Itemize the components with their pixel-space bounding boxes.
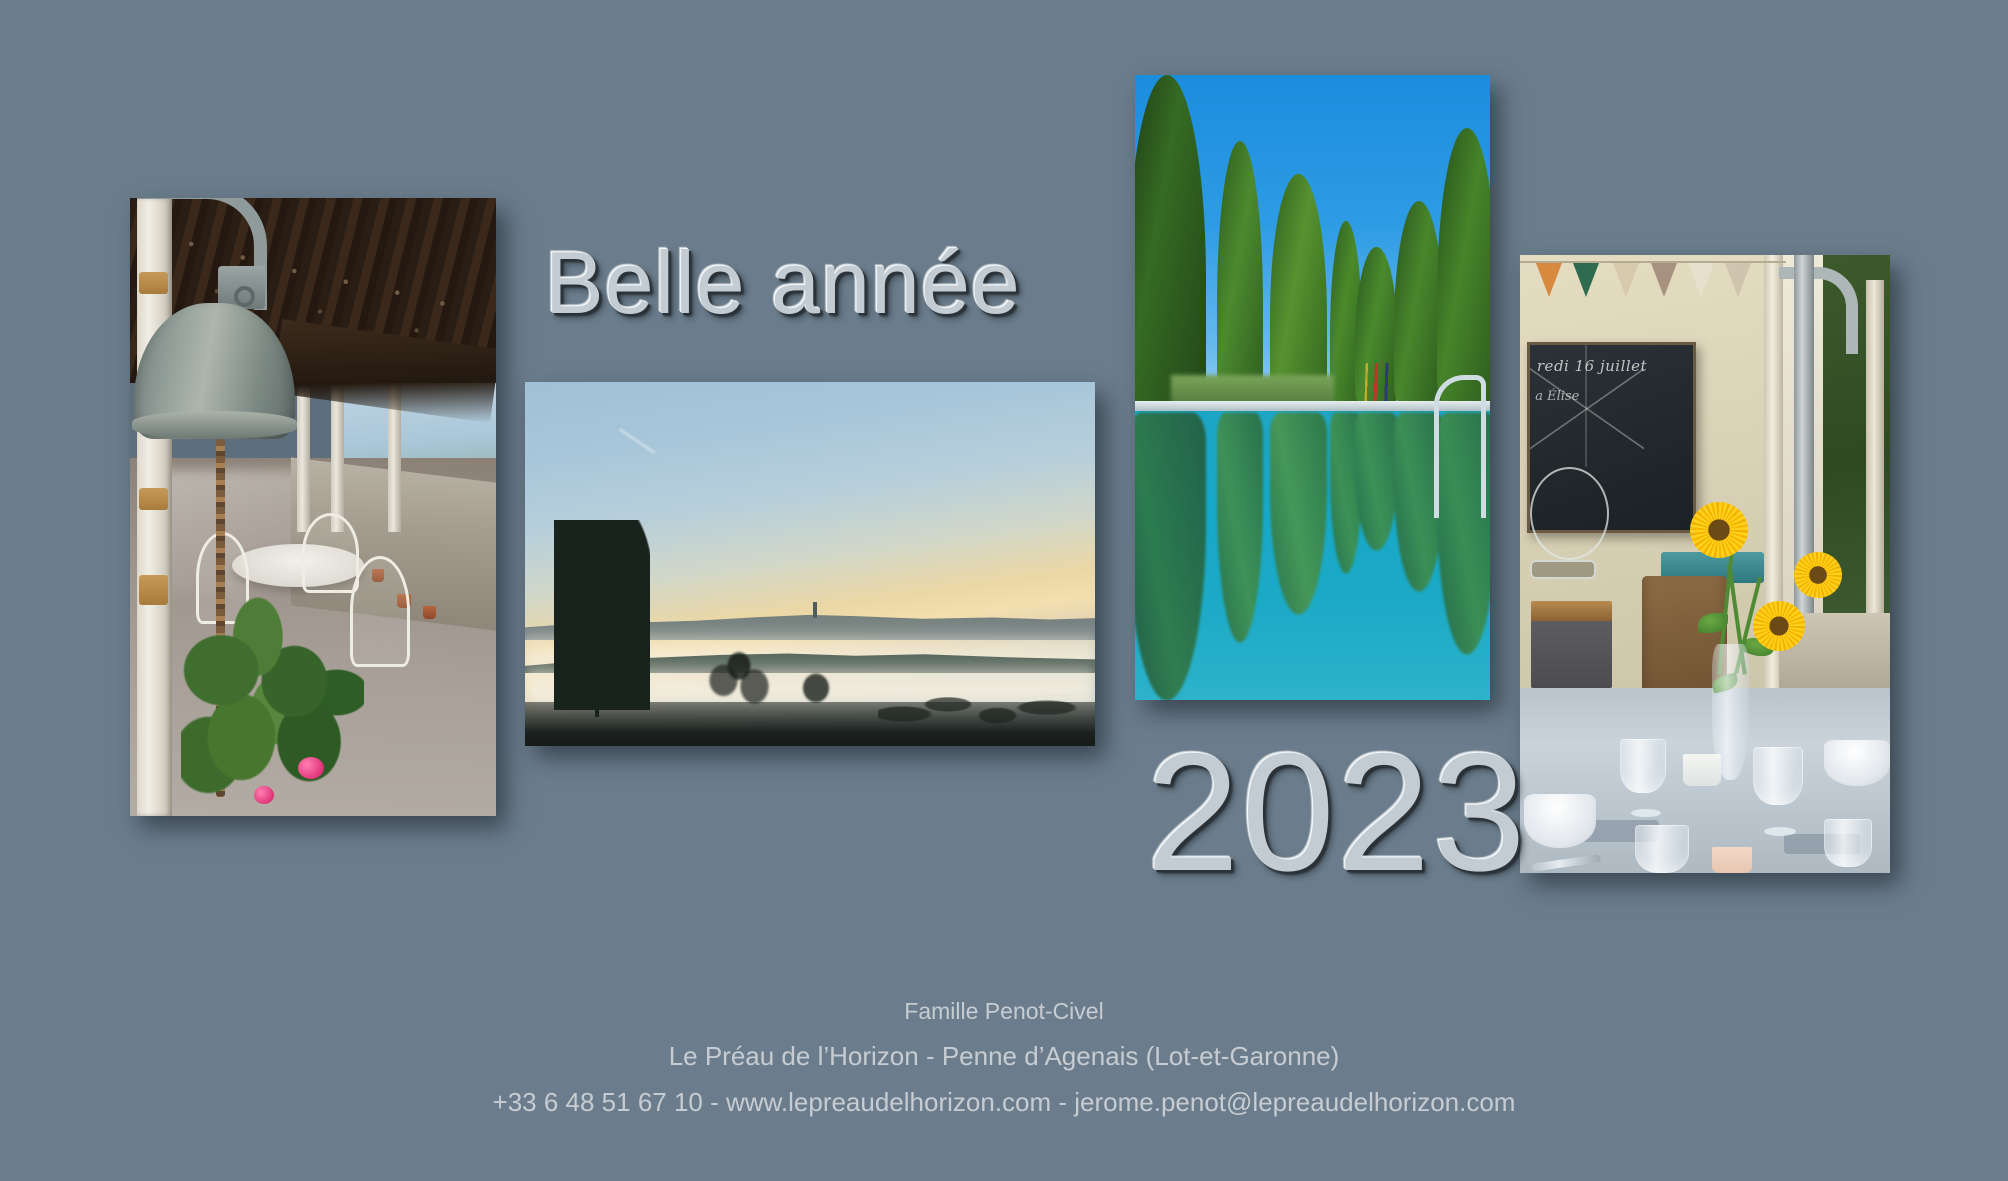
footer-contact-details: +33 6 48 51 67 10 - www.lepreaudelhorizo… — [0, 1089, 2008, 1115]
school-desk — [1531, 601, 1612, 688]
wine-goblet — [1620, 739, 1666, 793]
foreground-weeds — [878, 666, 1083, 746]
downpipe-elbow — [1779, 267, 1858, 353]
cypress-reflection-tree — [1355, 413, 1398, 551]
flower-pot-icon — [423, 606, 436, 619]
door-hinge-icon — [139, 488, 168, 510]
photo-table-setting[interactable]: redi 16 juillet a Élise — [1520, 255, 1890, 873]
bunting-flags — [1520, 261, 1786, 329]
drinking-glass — [1824, 819, 1872, 867]
ramekin — [1712, 847, 1752, 873]
ramekin — [1683, 754, 1721, 786]
cypress-tree — [1437, 128, 1490, 406]
clothesline — [1801, 453, 1882, 515]
greeting-card: redi 16 juillet a Élise — [0, 0, 2008, 1181]
wine-goblet — [1753, 747, 1803, 805]
cypress-reflection-tree — [1217, 413, 1263, 643]
chalk-sunglasses-icon — [1530, 560, 1596, 579]
chalkboard-menu[interactable]: redi 16 juillet a Élise — [1527, 342, 1696, 533]
bunting-flag-icon — [1613, 263, 1639, 297]
sunflower-icon — [1690, 502, 1748, 558]
cypress-reflection-tree — [1270, 413, 1327, 614]
cypress-tree — [1270, 174, 1327, 406]
cypress-tree — [1135, 75, 1206, 406]
bunting-flag-icon — [1573, 263, 1599, 297]
cypress-reflection-tree — [1135, 413, 1206, 701]
cypress-tree — [1217, 141, 1263, 406]
pink-rose-icon — [254, 786, 274, 804]
photo-pool[interactable] — [1135, 75, 1490, 700]
photo-landscape[interactable] — [525, 382, 1095, 746]
bunting-flag-icon — [1725, 263, 1751, 297]
bunting-flag-icon — [1536, 263, 1562, 297]
sunflower-icon — [1794, 552, 1842, 598]
rose-bush — [181, 581, 364, 803]
bell-ring-icon — [234, 286, 255, 307]
footer-contact-block: Famille Penot-Civel Le Préau de l’Horizo… — [0, 1000, 2008, 1115]
bunting-flag-icon — [1651, 263, 1677, 297]
goblet-foot — [1764, 827, 1796, 836]
chalkboard-line-2: a Élise — [1535, 389, 1579, 404]
white-bowl — [1524, 794, 1596, 848]
photo-terrace[interactable] — [130, 198, 496, 816]
photo-landscape-content — [525, 382, 1095, 746]
bunting-flag-icon — [1688, 263, 1714, 297]
bare-tree — [696, 615, 782, 717]
year-title: 2023 — [1146, 716, 1528, 909]
footer-family-name: Famille Penot-Civel — [0, 1000, 2008, 1023]
door-hinge-icon — [139, 575, 168, 605]
photo-terrace-content — [130, 198, 496, 816]
page-title: Belle année — [545, 232, 1021, 334]
drinking-glass — [1635, 825, 1689, 873]
chalk-sun-face — [1530, 467, 1609, 560]
photo-table-content: redi 16 juillet a Élise — [1520, 255, 1890, 873]
bare-tree — [776, 644, 856, 724]
sunflower-icon — [1753, 601, 1805, 651]
white-bowl — [1824, 740, 1890, 786]
chalkboard-line-1: redi 16 juillet — [1537, 357, 1647, 375]
photo-pool-content — [1135, 75, 1490, 700]
pool-ladder — [1434, 375, 1487, 518]
distant-tower — [813, 602, 817, 618]
cedar-trunk — [595, 542, 599, 717]
footer-address: Le Préau de l’Horizon - Penne d’Agenais … — [0, 1043, 2008, 1069]
cedar-tree — [554, 520, 651, 709]
cypress-row — [1135, 75, 1490, 406]
bell-lip — [132, 411, 297, 439]
